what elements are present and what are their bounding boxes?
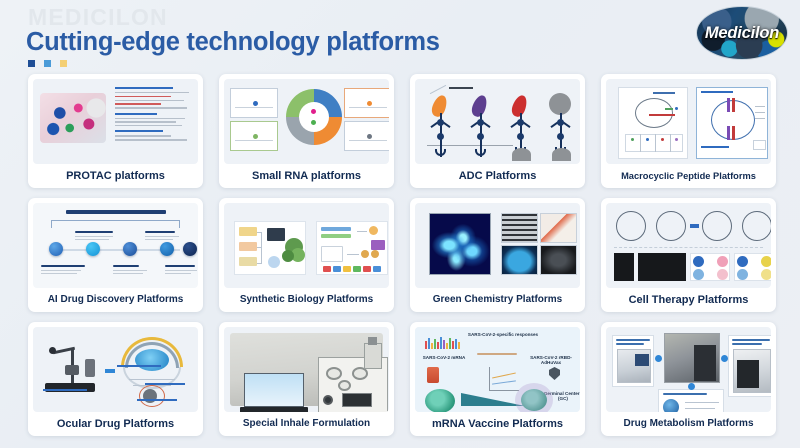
flow-photochemistry-image: [429, 213, 491, 275]
catalyst-photo-4: [540, 245, 577, 275]
mrna-cell-right-halo: [515, 383, 553, 412]
eye-anatomy-diagram: [115, 333, 191, 407]
protac-molecule-image: [40, 93, 106, 143]
catalyst-photo-3: [501, 245, 538, 275]
biocatalyst-panel: [234, 221, 306, 275]
dm-panel-bottom: [658, 389, 724, 412]
dm-arrow-1-icon: [655, 355, 662, 362]
platform-card-ai-drug-discovery[interactable]: AI Drug Discovery Platforms: [28, 198, 203, 312]
card-title-green-chemistry: Green Chemistry Platforms: [415, 288, 580, 312]
catalyst-photo-1: [501, 213, 538, 243]
ai-label-1: [41, 265, 85, 267]
logo-text: Medicilon: [705, 24, 779, 43]
mrna-plot: [489, 367, 519, 391]
protac-text-panel: [115, 87, 195, 143]
gel-image-1: [614, 253, 634, 281]
accent-dots: [28, 60, 67, 67]
inhalation-device-photo: [230, 333, 383, 406]
ocular-label-1: [117, 365, 161, 367]
platform-card-ocular-drug[interactable]: Ocular Drug Platforms: [28, 322, 203, 436]
ai-heading-bar: [66, 210, 166, 214]
catalyst-photo-2: [540, 213, 577, 243]
ai-label-5: [165, 265, 195, 267]
adc-payload-label: [449, 87, 473, 89]
ocular-label-2: [145, 383, 185, 385]
ai-node-3: [123, 242, 137, 256]
card-title-drug-metabolism: Drug Metabolism Platforms: [606, 412, 771, 436]
platform-card-grid: PROTAC platforms: [28, 74, 776, 436]
platform-card-drug-metabolism[interactable]: Drug Metabolism Platforms: [601, 322, 776, 436]
ai-node-1: [49, 242, 63, 256]
ocular-drug-thumbnail: [33, 327, 198, 412]
accent-dot-gold: [60, 60, 67, 67]
card-title-macrocyclic-peptide: Macrocyclic Peptide Platforms: [606, 164, 771, 188]
accent-dot-blue: [44, 60, 51, 67]
laptop-screen: [244, 373, 304, 407]
card-title-special-inhale: Special Inhale Formulation: [224, 412, 389, 436]
card-title-ai-drug-discovery: AI Drug Discovery Platforms: [33, 288, 198, 312]
small-rna-panel-tl: [230, 88, 278, 118]
cell-therapy-thumbnail: [606, 203, 771, 288]
card-title-synthetic-biology: Synthetic Biology Platforms: [224, 288, 389, 312]
platform-card-macrocyclic-peptide[interactable]: Macrocyclic Peptide Platforms: [601, 74, 776, 188]
adc-antibody-1: [431, 97, 451, 159]
ai-bracket-icon: [51, 220, 180, 228]
card-title-adc: ADC Platforms: [415, 164, 580, 188]
platform-card-protac[interactable]: PROTAC platforms: [28, 74, 203, 188]
platform-card-green-chemistry[interactable]: Green Chemistry Platforms: [410, 198, 585, 312]
mrna-label-top: SARS-CoV-2-specific responses: [467, 332, 539, 337]
small-rna-thumbnail: [224, 79, 389, 164]
phage-display-library-panel: [696, 87, 768, 159]
small-rna-panel-tr: [344, 88, 389, 118]
platform-card-adc[interactable]: ADC Platforms: [410, 74, 585, 188]
macrocyclic-peptide-thumbnail: [606, 79, 771, 164]
adc-antibody-2: [471, 97, 491, 159]
dm-arrow-2-icon: [721, 355, 728, 362]
ocular-label-3: [137, 399, 177, 401]
platform-card-cell-therapy[interactable]: Cell Therapy Platforms: [601, 198, 776, 312]
mrna-display-library-panel: [618, 87, 688, 159]
laptop-base: [240, 407, 308, 412]
plasmid-arrow-icon: [690, 224, 699, 228]
ai-node-2: [86, 242, 100, 256]
mrna-antigen-glyph: [427, 367, 439, 383]
ai-label-2: [75, 231, 113, 233]
card-title-cell-therapy: Cell Therapy Platforms: [606, 288, 771, 312]
catalyst-screening-grid: [501, 213, 577, 275]
platform-card-synthetic-biology[interactable]: Synthetic Biology Platforms: [219, 198, 394, 312]
ai-label-3: [113, 265, 139, 267]
platform-card-mrna-vaccine[interactable]: SARS-CoV-2-specific responses SARS-CoV-2…: [410, 322, 585, 436]
adc-antibody-3: [511, 97, 531, 159]
mrna-cell-left: [425, 389, 455, 412]
synthetic-biology-thumbnail: [224, 203, 389, 288]
card-title-ocular-drug: Ocular Drug Platforms: [33, 412, 198, 436]
mrna-curve: [477, 353, 517, 355]
ai-drug-discovery-thumbnail: [33, 203, 198, 288]
mrna-sequence-bars: [425, 337, 460, 349]
adc-thumbnail: [415, 79, 580, 164]
platform-card-small-rna[interactable]: Small RNA platforms: [219, 74, 394, 188]
medicilon-logo: Medicilon: [696, 6, 788, 60]
protac-thumbnail: [33, 79, 198, 164]
small-rna-panel-br: [344, 121, 389, 151]
adc-payload-leader: [430, 85, 446, 94]
accent-dot-navy: [28, 60, 35, 67]
dm-panel-right: [728, 335, 771, 397]
dm-panel-left: [612, 335, 654, 387]
gel-image-2: [638, 253, 686, 281]
card-title-small-rna: Small RNA platforms: [224, 164, 389, 188]
green-chemistry-thumbnail: [415, 203, 580, 288]
adc-antibody-4: [551, 97, 571, 159]
small-rna-panel-bl: [230, 121, 278, 151]
page-title: Cutting-edge technology platforms: [26, 28, 440, 57]
ai-label-4: [145, 231, 175, 233]
cell-therapy-divider: [614, 247, 763, 248]
platform-card-special-inhale[interactable]: Special Inhale Formulation: [219, 322, 394, 436]
biosynthesis-panel: [316, 221, 388, 275]
drug-metabolism-thumbnail: [606, 327, 771, 412]
mrna-label-right: SARS-CoV-2 rRBD-AdHuVax: [521, 355, 580, 366]
mrna-vaccine-thumbnail: SARS-CoV-2-specific responses SARS-CoV-2…: [415, 327, 580, 412]
mrna-label-left: SARS-CoV-2 mRNA: [421, 355, 467, 360]
ocular-arrow-icon: [105, 369, 115, 373]
flow-cytometry-panel-1: [690, 253, 730, 281]
card-title-mrna-vaccine: mRNA Vaccine Platforms: [415, 412, 580, 436]
plasmid-map-2: [656, 211, 686, 241]
plasmid-map-1: [616, 211, 646, 241]
medicilon-watermark: MEDICILON: [28, 4, 168, 31]
ocular-label-4: [43, 389, 87, 391]
special-inhale-thumbnail: [224, 327, 389, 412]
flow-cytometry-panel-2: [734, 253, 771, 281]
dm-arrow-3-icon: [688, 383, 695, 390]
ai-node-5: [183, 242, 197, 256]
plasmid-map-3: [702, 211, 732, 241]
card-title-protac: PROTAC platforms: [33, 164, 198, 188]
ai-node-4: [160, 242, 174, 256]
small-rna-cycle-diagram-icon: [286, 89, 342, 145]
plasmid-map-4: [742, 211, 771, 241]
